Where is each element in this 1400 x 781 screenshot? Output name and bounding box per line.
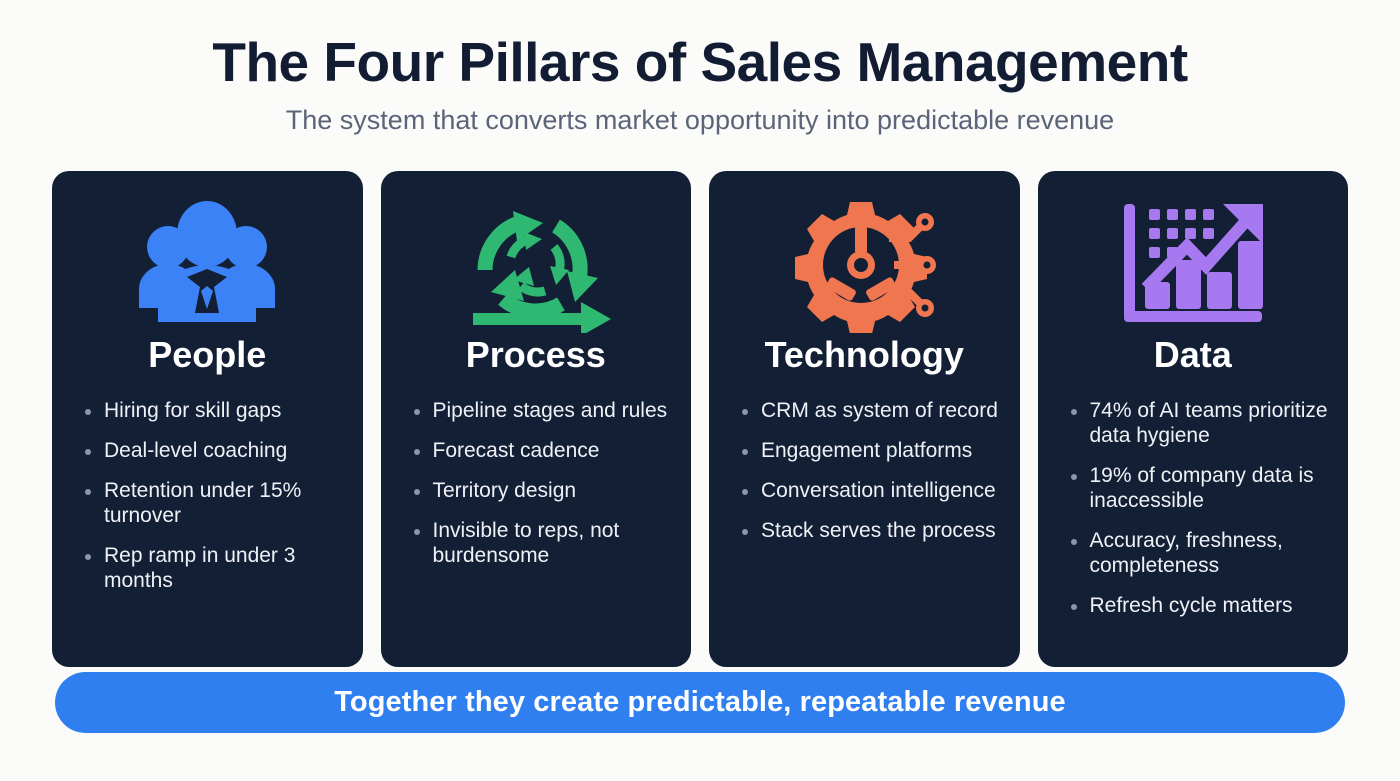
list-item: Territory design xyxy=(411,479,674,504)
bullet-list-process: Pipeline stages and rules Forecast caden… xyxy=(381,399,692,584)
bar-chart-growth-icon xyxy=(1038,193,1349,337)
list-item: 19% of company data is inaccessible xyxy=(1068,464,1331,514)
pillar-card-people[interactable]: People Hiring for skill gaps Deal-level … xyxy=(52,171,363,667)
pillar-card-data[interactable]: Data 74% of AI teams prioritize data hyg… xyxy=(1038,171,1349,667)
infographic-page: The Four Pillars of Sales Management The… xyxy=(0,0,1400,781)
page-title: The Four Pillars of Sales Management xyxy=(0,34,1400,92)
list-item: CRM as system of record xyxy=(739,399,1002,424)
page-subtitle: The system that converts market opportun… xyxy=(0,106,1400,136)
summary-banner-text: Together they create predictable, repeat… xyxy=(334,686,1066,719)
people-group-icon xyxy=(52,193,363,337)
list-item: Engagement platforms xyxy=(739,439,1002,464)
card-title-people: People xyxy=(148,337,266,373)
list-item: Forecast cadence xyxy=(411,439,674,464)
bullet-list-technology: CRM as system of record Engagement platf… xyxy=(709,399,1020,559)
list-item: Conversation intelligence xyxy=(739,479,1002,504)
list-item: Invisible to reps, not burdensome xyxy=(411,519,674,569)
list-item: Retention under 15% turnover xyxy=(82,479,345,529)
header: The Four Pillars of Sales Management The… xyxy=(0,0,1400,135)
card-title-process: Process xyxy=(466,337,606,373)
card-title-technology: Technology xyxy=(765,337,964,373)
list-item: 74% of AI teams prioritize data hygiene xyxy=(1068,399,1331,449)
cyclical-arrows-icon xyxy=(381,193,692,337)
summary-banner: Together they create predictable, repeat… xyxy=(55,672,1345,733)
pillar-cards: People Hiring for skill gaps Deal-level … xyxy=(52,171,1348,667)
gear-circuit-icon xyxy=(709,193,1020,337)
list-item: Pipeline stages and rules xyxy=(411,399,674,424)
list-item: Accuracy, freshness, completeness xyxy=(1068,529,1331,579)
list-item: Hiring for skill gaps xyxy=(82,399,345,424)
list-item: Deal-level coaching xyxy=(82,439,345,464)
pillar-card-technology[interactable]: Technology CRM as system of record Engag… xyxy=(709,171,1020,667)
bullet-list-people: Hiring for skill gaps Deal-level coachin… xyxy=(52,399,363,609)
list-item: Stack serves the process xyxy=(739,519,1002,544)
list-item: Rep ramp in under 3 months xyxy=(82,544,345,594)
bullet-list-data: 74% of AI teams prioritize data hygiene … xyxy=(1038,399,1349,634)
list-item: Refresh cycle matters xyxy=(1068,594,1331,619)
card-title-data: Data xyxy=(1154,337,1232,373)
pillar-card-process[interactable]: Process Pipeline stages and rules Foreca… xyxy=(381,171,692,667)
